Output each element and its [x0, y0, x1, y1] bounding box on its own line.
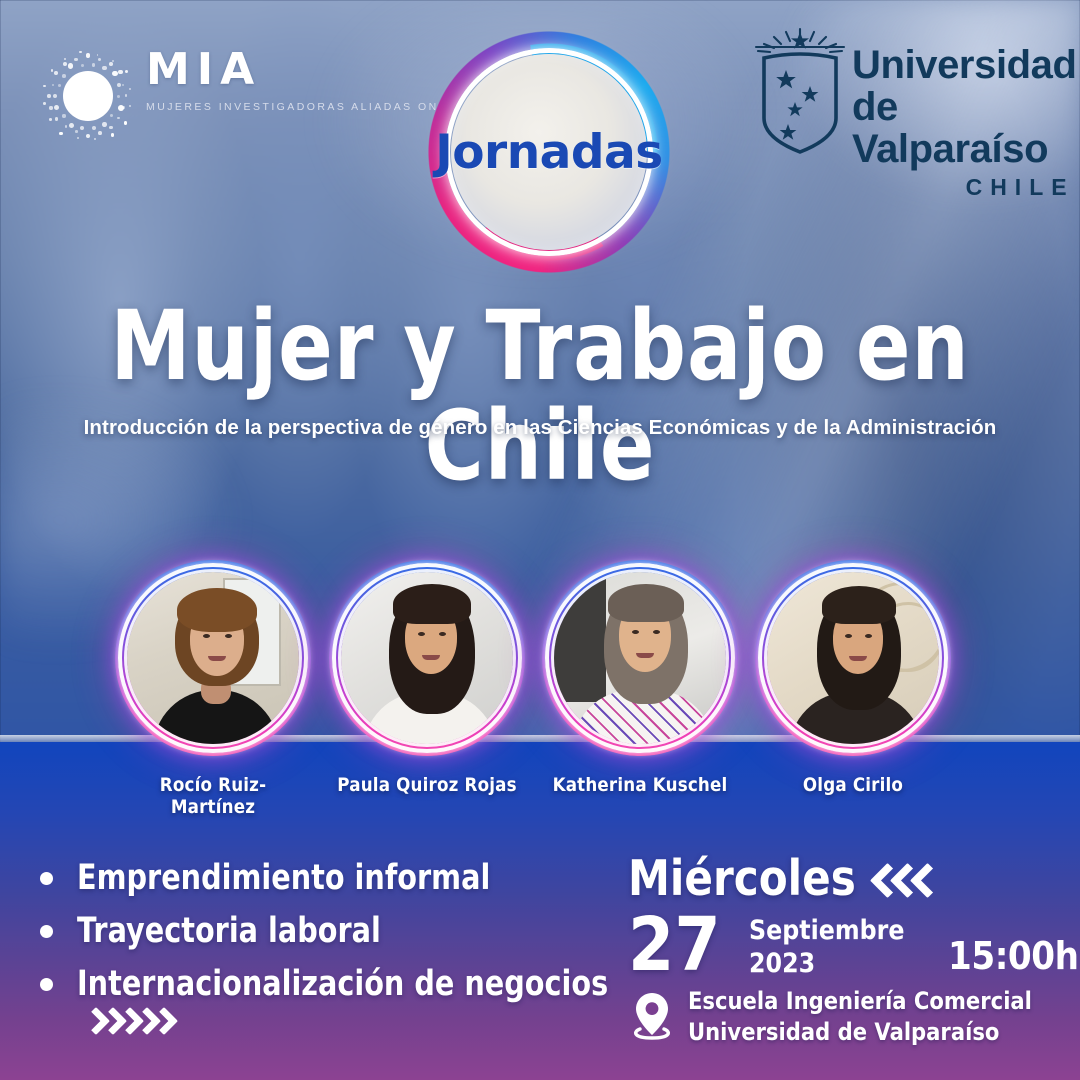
- bullet-dot-icon: [40, 872, 53, 885]
- speaker-name: Rocío Ruiz-Martínez: [118, 774, 308, 818]
- page-subtitle: Introducción de la perspectiva de género…: [0, 416, 1080, 440]
- university-logo-text: Universidad de Valparaíso CHILE: [852, 44, 1077, 201]
- venue-block: Escuela Ingeniería Comercial Universidad…: [630, 986, 1079, 1048]
- speaker-ring: [542, 560, 738, 756]
- event-poster: MIA MUJERES INVESTIGADORAS ALIADAS ONG: [0, 0, 1080, 1080]
- mia-logo-text: MIA MUJERES INVESTIGADORAS ALIADAS ONG: [146, 48, 449, 113]
- date-row: 27 Septiembre 2023 15:00h: [628, 908, 1048, 982]
- topic-label: Internacionalización de negocios: [77, 962, 608, 1006]
- venue-text: Escuela Ingeniería Comercial Universidad…: [688, 986, 1079, 1048]
- speaker-ring: [755, 560, 951, 756]
- chevrons-left-icon: [871, 862, 931, 896]
- chevrons-right-icon: [85, 1008, 168, 1034]
- bullet-dot-icon: [40, 925, 53, 938]
- speaker-ring: [329, 560, 525, 756]
- page-title: Mujer y Trabajo en Chile: [86, 296, 993, 496]
- speaker-ring: [115, 560, 311, 756]
- university-logo: Universidad de Valparaíso CHILE: [752, 22, 1052, 170]
- venue-line-2: Universidad de Valparaíso: [688, 1017, 1032, 1048]
- map-pin-icon: [630, 991, 674, 1043]
- list-item: Internacionalización de negocios: [40, 962, 600, 1006]
- avatar: [551, 569, 729, 747]
- mia-name: MIA: [146, 48, 449, 92]
- speaker-card: Olga Cirilo: [745, 560, 961, 796]
- venue-line-1: Escuela Ingeniería Comercial: [688, 986, 1032, 1017]
- university-line-2: de Valparaíso: [852, 86, 1077, 170]
- topic-label: Emprendimiento informal: [77, 856, 490, 900]
- badge-label: Jornadas: [425, 28, 673, 276]
- event-day: 27: [628, 908, 721, 982]
- event-year: 2023: [749, 949, 904, 979]
- mia-logo: MIA MUJERES INVESTIGADORAS ALIADAS ONG: [42, 46, 382, 142]
- speaker-card: Rocío Ruiz-Martínez: [105, 560, 321, 818]
- list-item: Emprendimiento informal: [40, 856, 600, 900]
- speaker-card: Katherina Kuschel: [532, 560, 748, 796]
- event-weekday: Miércoles: [628, 852, 856, 906]
- event-time: 15:00h: [948, 934, 1079, 978]
- university-country: CHILE: [852, 174, 1077, 201]
- uv-shield-crest-icon: [752, 26, 848, 160]
- university-line-1: Universidad: [852, 44, 1077, 86]
- jornadas-badge: Jornadas: [425, 28, 673, 276]
- speaker-card: Paula Quiroz Rojas: [319, 560, 535, 796]
- weekday-row: Miércoles: [628, 852, 1048, 906]
- shield-svg: [752, 26, 848, 160]
- avatar: [338, 569, 516, 747]
- list-item: Trayectoria laboral: [40, 909, 600, 953]
- speakers-row: Rocío Ruiz-Martínez: [0, 560, 1080, 820]
- month-year-group: Septiembre 2023: [749, 916, 926, 979]
- event-date-block: Miércoles 27 Septiembre 2023 15:00h: [628, 852, 1048, 982]
- event-month: Septiembre: [749, 916, 904, 946]
- speaker-name: Olga Cirilo: [758, 774, 948, 796]
- avatar: [764, 569, 942, 747]
- sun-burst-dots-icon: [42, 50, 134, 142]
- sun-core-icon: [63, 71, 113, 121]
- speaker-name: Paula Quiroz Rojas: [332, 774, 522, 796]
- topics-list: Emprendimiento informal Trayectoria labo…: [40, 856, 600, 1015]
- avatar: [124, 569, 302, 747]
- speaker-name: Katherina Kuschel: [545, 774, 735, 796]
- topic-label: Trayectoria laboral: [77, 909, 381, 953]
- mia-tagline: MUJERES INVESTIGADORAS ALIADAS ONG: [146, 101, 449, 113]
- bullet-dot-icon: [40, 978, 53, 991]
